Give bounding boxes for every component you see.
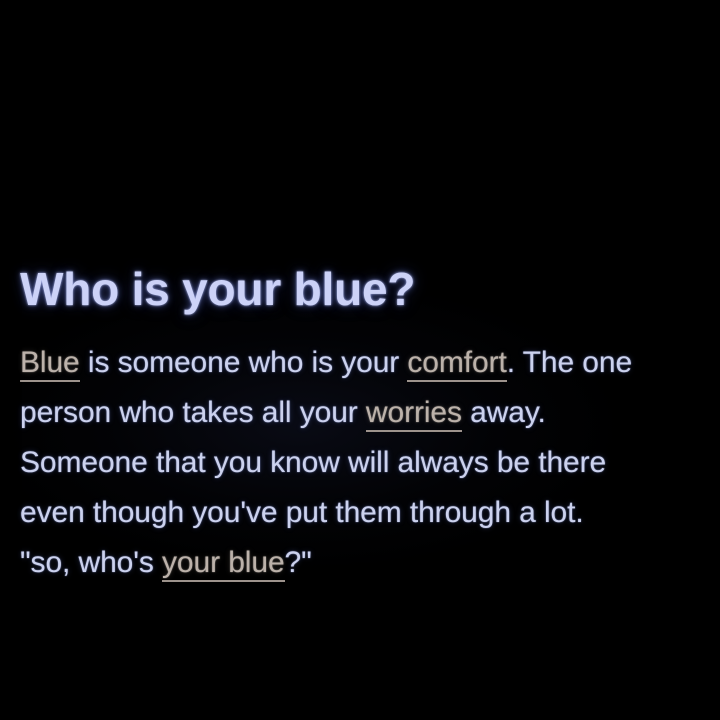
text-run: person who takes all your (20, 396, 366, 429)
text-run: is someone who is your (80, 346, 408, 379)
highlighted-phrase: comfort (407, 346, 506, 382)
body-line-4: even though you've put them through a lo… (20, 488, 710, 538)
body-line-5: "so, who's your blue?" (20, 538, 710, 588)
highlighted-phrase: worries (366, 396, 462, 432)
text-run: even though you've put them through a lo… (20, 496, 584, 529)
text-run: ?" (285, 546, 312, 579)
text-run: Someone that you know will always be the… (20, 446, 606, 479)
text-content: Who is your blue? Blue is someone who is… (0, 0, 720, 720)
highlighted-phrase: Blue (20, 346, 80, 382)
text-run: "so, who's (20, 546, 162, 579)
text-run: away. (462, 396, 546, 429)
body-paragraph: Blue is someone who is your comfort. The… (20, 338, 710, 588)
image-canvas: Who is your blue? Blue is someone who is… (0, 0, 720, 720)
highlighted-phrase: your blue (162, 546, 285, 582)
body-line-1: Blue is someone who is your comfort. The… (20, 338, 710, 388)
body-line-2: person who takes all your worries away. (20, 388, 710, 438)
page-title: Who is your blue? (20, 262, 415, 316)
body-line-3: Someone that you know will always be the… (20, 438, 710, 488)
text-run: . The one (507, 346, 632, 379)
